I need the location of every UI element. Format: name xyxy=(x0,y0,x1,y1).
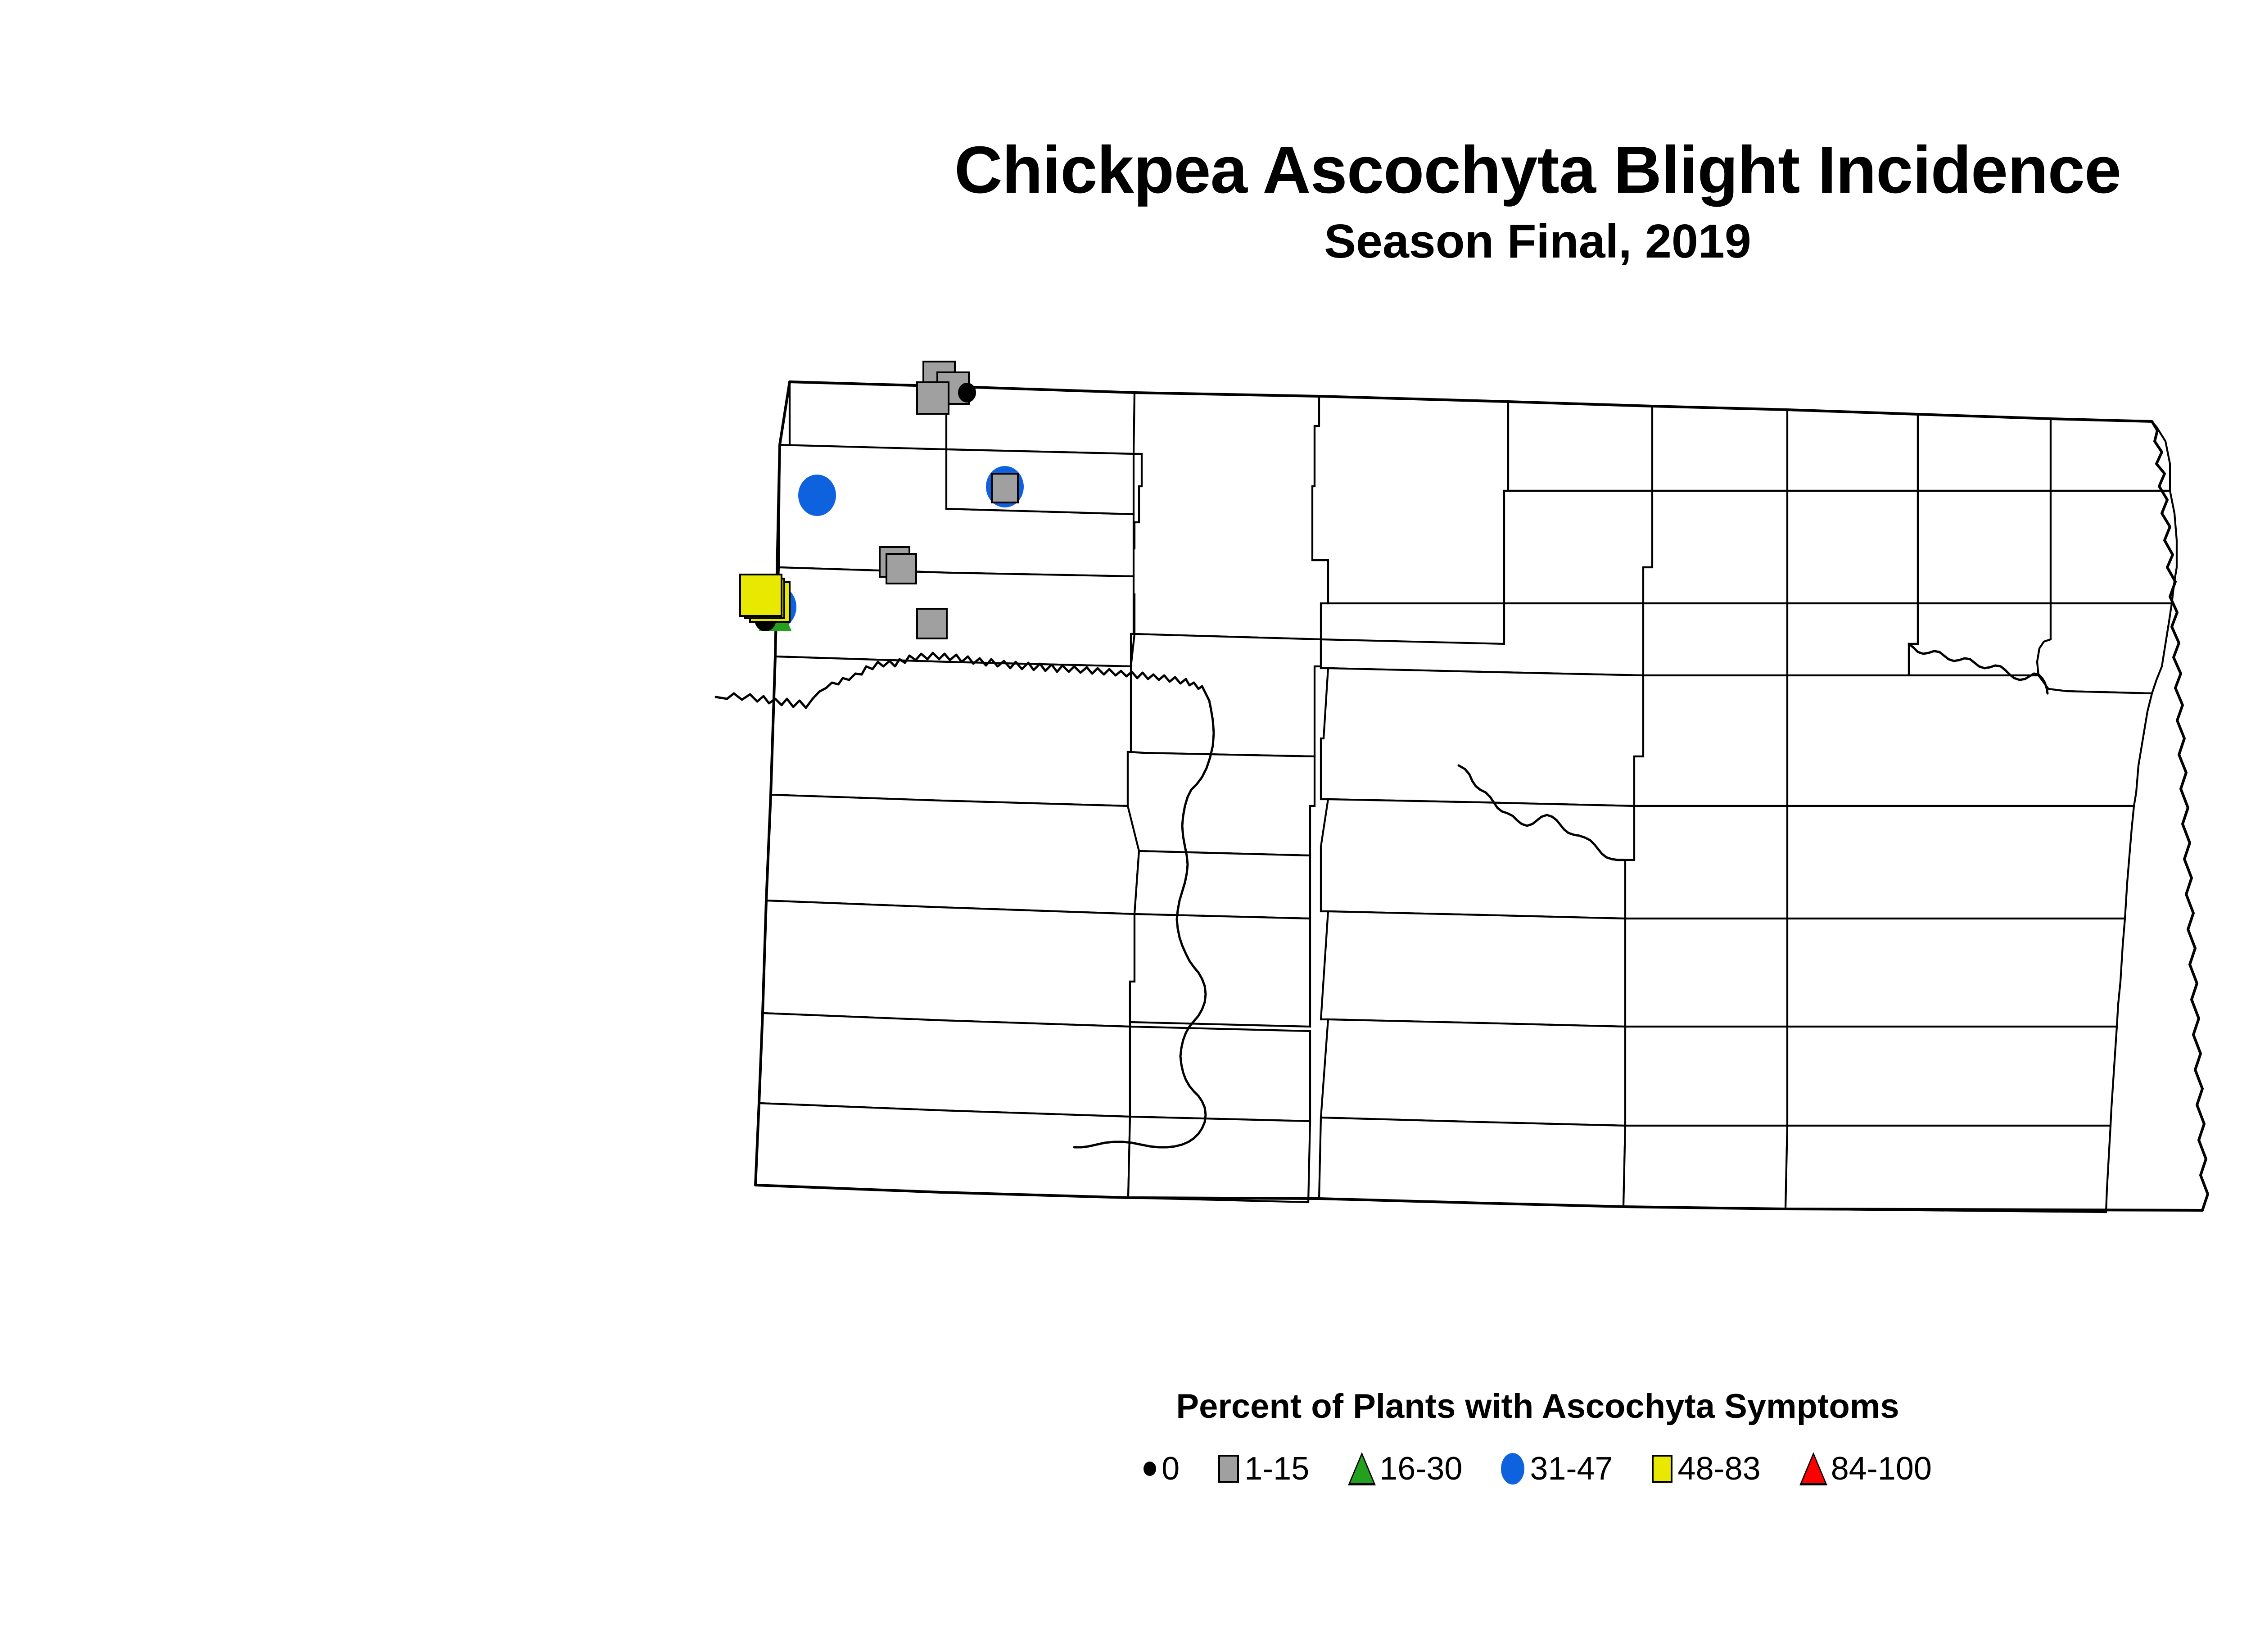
county-boundaries xyxy=(755,382,2177,1212)
map-marker-31-47[interactable] xyxy=(798,475,836,516)
legend-item-16-30[interactable]: 16-30 xyxy=(1348,1452,1462,1485)
map-marker-48-83[interactable] xyxy=(739,574,782,617)
legend-item-31-47[interactable]: 31-47 xyxy=(1501,1453,1613,1485)
map-page: Chickpea Ascochyta Blight Incidence Seas… xyxy=(0,0,2251,1652)
legend-swatch-circle-icon xyxy=(1501,1453,1524,1485)
title-block: Chickpea Ascochyta Blight Incidence Seas… xyxy=(0,135,2251,267)
legend-item-label: 16-30 xyxy=(1379,1453,1462,1485)
triangle-fill-icon xyxy=(1350,1455,1374,1483)
map-marker-1-15[interactable] xyxy=(916,608,948,639)
legend-swatch-triangle-icon xyxy=(1348,1452,1375,1485)
legend-item-label: 31-47 xyxy=(1530,1453,1613,1485)
map-svg xyxy=(671,351,2251,1301)
page-subtitle: Season Final, 2019 xyxy=(0,217,2251,267)
legend-title: Percent of Plants with Ascochyta Symptom… xyxy=(0,1387,2251,1426)
map-marker-1-15[interactable] xyxy=(886,553,917,584)
north-dakota-map[interactable] xyxy=(671,351,2251,1301)
map-marker-1-15[interactable] xyxy=(916,381,949,415)
legend-item-label: 48-83 xyxy=(1678,1453,1761,1485)
legend-item-label: 1-15 xyxy=(1244,1453,1309,1485)
legend-item-0[interactable]: 0 xyxy=(1144,1453,1180,1485)
legend-item-1-15[interactable]: 1-15 xyxy=(1218,1453,1309,1485)
legend-swatch-triangle-icon xyxy=(1799,1452,1826,1485)
legend-items: 01-1516-3031-4748-8384-100 xyxy=(0,1452,2251,1485)
triangle-fill-icon xyxy=(1802,1455,1825,1483)
legend-item-84-100[interactable]: 84-100 xyxy=(1799,1452,1932,1485)
legend-item-48-83[interactable]: 48-83 xyxy=(1652,1453,1761,1485)
legend: Percent of Plants with Ascochyta Symptom… xyxy=(0,1387,2251,1485)
legend-swatch-square-icon xyxy=(1218,1455,1239,1483)
legend-item-label: 0 xyxy=(1162,1453,1180,1485)
map-marker-0[interactable] xyxy=(958,383,976,403)
legend-swatch-dot-icon xyxy=(1144,1462,1156,1476)
legend-item-label: 84-100 xyxy=(1831,1453,1932,1485)
legend-swatch-square-icon xyxy=(1652,1455,1672,1483)
map-marker-1-15[interactable] xyxy=(991,473,1019,503)
page-title: Chickpea Ascochyta Blight Incidence xyxy=(0,135,2251,205)
